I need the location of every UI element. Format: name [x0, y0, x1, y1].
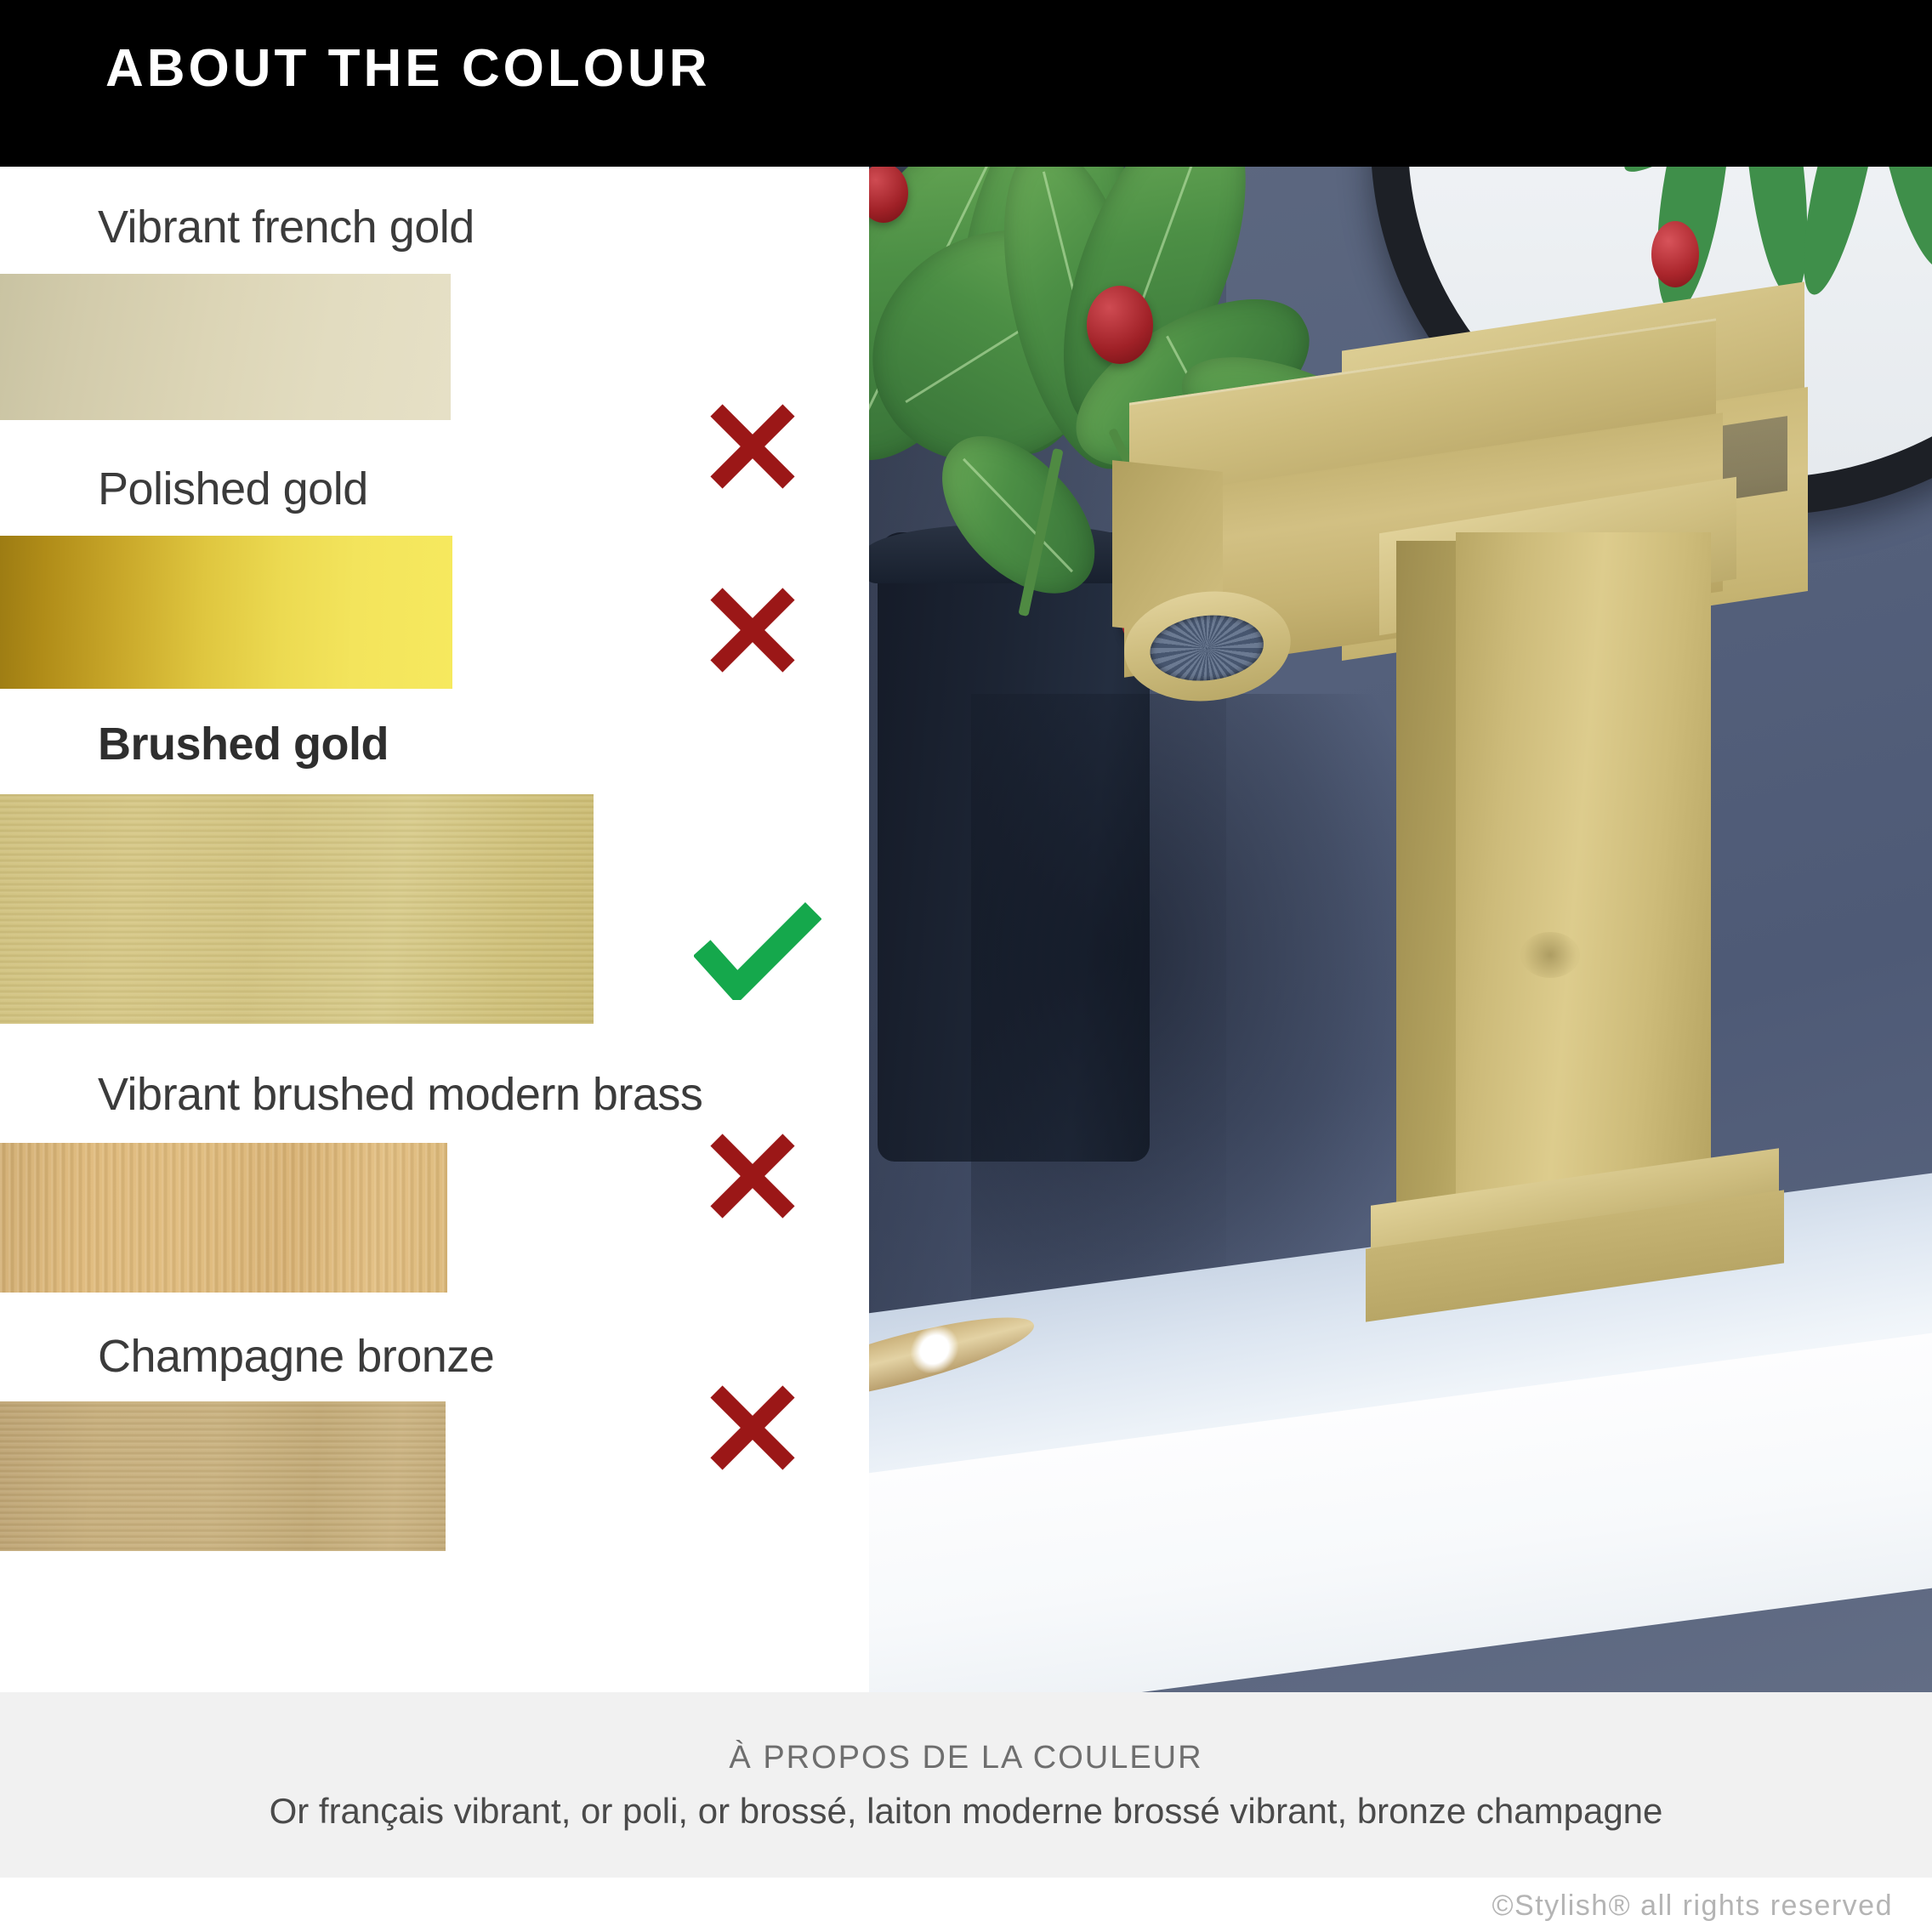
footer-title-fr: À PROPOS DE LA COULEUR: [0, 1740, 1932, 1776]
aerator-mesh: [1147, 610, 1267, 686]
footer-band: À PROPOS DE LA COULEUR Or français vibra…: [0, 1692, 1932, 1878]
cross-icon: [702, 1126, 803, 1226]
cross-icon: [702, 1378, 803, 1478]
list-item: Champagne bronze: [0, 167, 869, 316]
brushed-gold-faucet: [869, 167, 1932, 1692]
colour-swatch-polished-gold: [0, 536, 452, 689]
header-band: ABOUT THE COLOUR: [0, 0, 1932, 167]
footer-subtitle-fr: Or français vibrant, or poli, or brossé,…: [0, 1791, 1932, 1832]
colour-swatch-vibrant-brushed-modern-brass: [0, 1143, 447, 1293]
check-icon: [694, 900, 821, 1000]
cross-icon: [702, 580, 803, 680]
cross-icon: [702, 396, 803, 497]
faucet-body: [1456, 532, 1711, 1204]
faucet-brand-mark: [1520, 932, 1580, 978]
swatch-label: Brushed gold: [98, 718, 389, 770]
swatch-label: Vibrant brushed modern brass: [98, 1068, 702, 1121]
infographic-page: ABOUT THE COLOUR Vibrant french gold Pol…: [0, 0, 1932, 1932]
product-photo: [869, 167, 1932, 1692]
colour-swatch-panel: Vibrant french gold Polished gold Brushe…: [0, 167, 869, 1692]
swatch-label: Polished gold: [98, 463, 368, 515]
copyright-notice: ©Stylish® all rights reserved: [1492, 1889, 1893, 1923]
colour-swatch-brushed-gold: [0, 794, 594, 1024]
colour-swatch-champagne-bronze: [0, 1401, 446, 1551]
swatch-label: Champagne bronze: [98, 1330, 494, 1383]
page-title: ABOUT THE COLOUR: [105, 43, 711, 95]
